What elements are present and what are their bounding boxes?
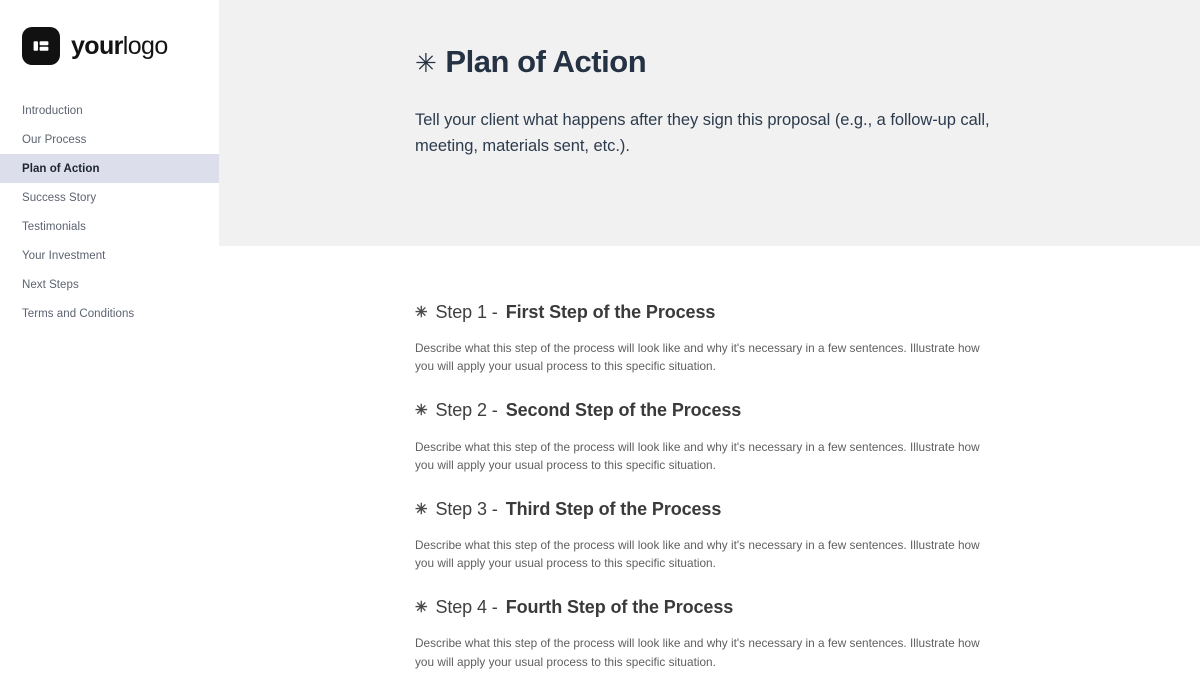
brand-name-bold: your — [71, 32, 123, 60]
step-heading: ✳ Step 2 - Second Step of the Process — [415, 398, 1140, 422]
step-item: ✳ Step 2 - Second Step of the Process De… — [415, 398, 1140, 473]
sidebar-item-label: Success Story — [22, 192, 96, 204]
sidebar-item-plan-of-action[interactable]: Plan of Action — [0, 154, 219, 183]
step-number-label: Step 4 - — [435, 595, 497, 619]
sidebar-item-label: Introduction — [22, 105, 83, 117]
sidebar-item-label: Our Process — [22, 134, 86, 146]
step-heading: ✳ Step 1 - First Step of the Process — [415, 300, 1140, 324]
step-item: ✳ Step 3 - Third Step of the Process Des… — [415, 497, 1140, 572]
document-header: ✳ Plan of Action Tell your client what h… — [219, 0, 1200, 246]
sidebar-item-testimonials[interactable]: Testimonials — [0, 212, 219, 241]
page-title: ✳ Plan of Action — [415, 44, 1140, 80]
asterisk-icon: ✳ — [415, 303, 427, 323]
asterisk-icon: ✳ — [415, 401, 427, 421]
sidebar-item-next-steps[interactable]: Next Steps — [0, 270, 219, 299]
step-number-label: Step 1 - — [435, 300, 497, 324]
asterisk-icon: ✳ — [415, 598, 427, 618]
page-title-text: Plan of Action — [445, 44, 646, 80]
proposal-app: yourlogo Introduction Our Process Plan o… — [0, 0, 1200, 684]
step-title: First Step of the Process — [506, 300, 716, 324]
brand-wordmark: yourlogo — [71, 34, 168, 59]
sidebar-item-introduction[interactable]: Introduction — [0, 96, 219, 125]
step-number-label: Step 2 - — [435, 398, 497, 422]
asterisk-icon: ✳ — [415, 500, 427, 520]
sidebar-nav: Introduction Our Process Plan of Action … — [0, 96, 219, 328]
document-pane: ✳ Plan of Action Tell your client what h… — [219, 0, 1200, 684]
step-description: Describe what this step of the process w… — [415, 438, 993, 474]
step-number-label: Step 3 - — [435, 497, 497, 521]
brand-logo[interactable]: yourlogo — [0, 22, 219, 70]
sidebar: yourlogo Introduction Our Process Plan o… — [0, 0, 219, 684]
panel-layout-icon — [22, 27, 60, 65]
step-heading: ✳ Step 4 - Fourth Step of the Process — [415, 595, 1140, 619]
step-heading: ✳ Step 3 - Third Step of the Process — [415, 497, 1140, 521]
step-title: Third Step of the Process — [506, 497, 722, 521]
sidebar-item-terms-and-conditions[interactable]: Terms and Conditions — [0, 299, 219, 328]
sidebar-item-label: Next Steps — [22, 279, 79, 291]
step-item: ✳ Step 4 - Fourth Step of the Process De… — [415, 595, 1140, 670]
step-title: Second Step of the Process — [506, 398, 741, 422]
step-title: Fourth Step of the Process — [506, 595, 733, 619]
step-description: Describe what this step of the process w… — [415, 536, 993, 572]
brand-name-light: logo — [123, 32, 168, 60]
sidebar-item-our-process[interactable]: Our Process — [0, 125, 219, 154]
sidebar-item-label: Testimonials — [22, 221, 86, 233]
sidebar-item-label: Your Investment — [22, 250, 105, 262]
document-body: ✳ Step 1 - First Step of the Process Des… — [219, 246, 1200, 671]
step-description: Describe what this step of the process w… — [415, 339, 993, 375]
page-subtitle: Tell your client what happens after they… — [415, 107, 995, 159]
step-description: Describe what this step of the process w… — [415, 634, 993, 670]
asterisk-icon: ✳ — [415, 50, 436, 76]
sidebar-item-your-investment[interactable]: Your Investment — [0, 241, 219, 270]
sidebar-item-success-story[interactable]: Success Story — [0, 183, 219, 212]
sidebar-item-label: Plan of Action — [22, 163, 100, 175]
sidebar-item-label: Terms and Conditions — [22, 308, 134, 320]
step-item: ✳ Step 1 - First Step of the Process Des… — [415, 300, 1140, 375]
